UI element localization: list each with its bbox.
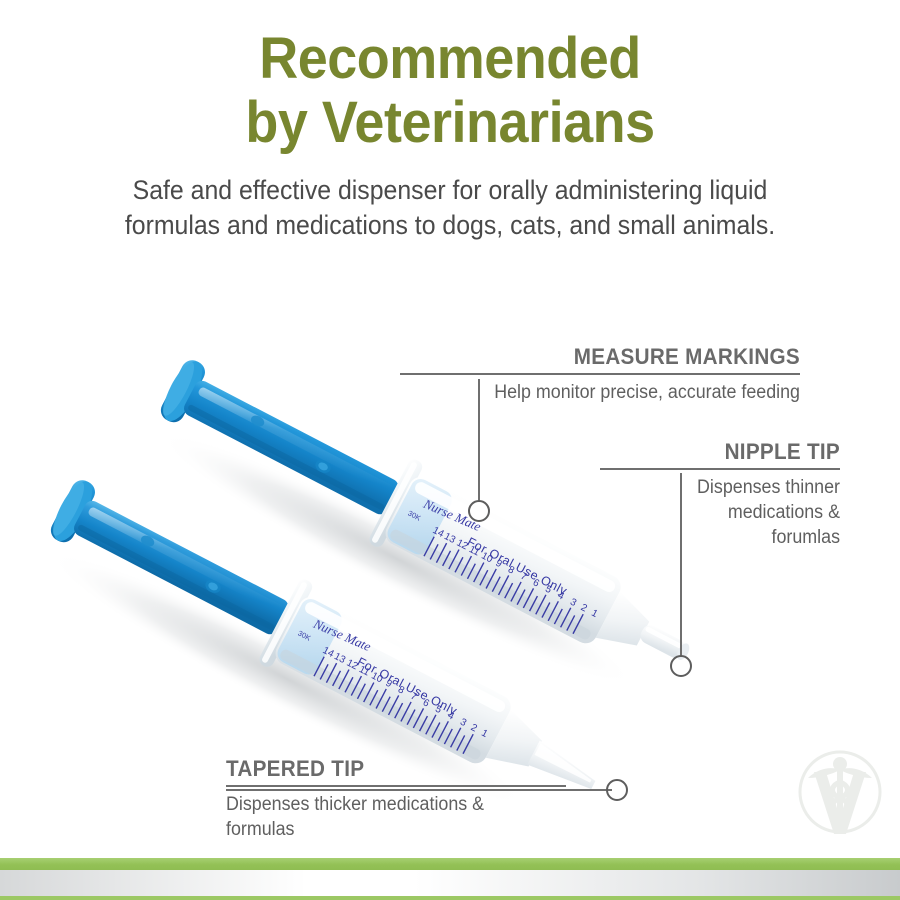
callout-nipple-tip-rule [600,468,840,470]
footer-grey-strip [0,870,900,898]
leader-line-measure-markings [478,379,480,502]
callout-measure-markings-rule [400,373,800,375]
callout-tapered-tip: TAPERED TIP Dispenses thicker medication… [226,757,566,842]
callout-nipple-tip-title: NIPPLE TIP [614,440,840,464]
leader-dot-nipple-tip [670,655,692,677]
callout-nipple-tip-body-line-1: Dispenses thinner [614,475,840,500]
infographic-canvas: Recommended by Veterinarians Safe and ef… [0,0,900,900]
leader-line-nipple-tip [680,473,682,657]
callout-nipple-tip: NIPPLE TIP Dispenses thinner medications… [600,440,840,550]
callout-tapered-tip-body: Dispenses thicker medications & formulas [226,792,546,842]
callout-measure-markings: MEASURE MARKINGS Help monitor precise, a… [400,345,800,405]
footer-green-bar [0,858,900,870]
leader-dot-tapered-tip [606,779,628,801]
leader-line-tapered-tip [226,789,612,791]
callout-tapered-tip-rule [226,785,566,787]
leader-dot-measure-markings [468,500,490,522]
callout-nipple-tip-body-line-3: forumlas [614,525,840,550]
veterinary-caduceus-icon [788,742,892,846]
callout-nipple-tip-body-line-2: medications & [614,500,840,525]
footer-green-bottom-edge [0,896,900,900]
callout-measure-markings-title: MEASURE MARKINGS [424,345,800,369]
callout-measure-markings-body: Help monitor precise, accurate feeding [424,380,800,405]
callout-tapered-tip-title: TAPERED TIP [226,757,546,781]
